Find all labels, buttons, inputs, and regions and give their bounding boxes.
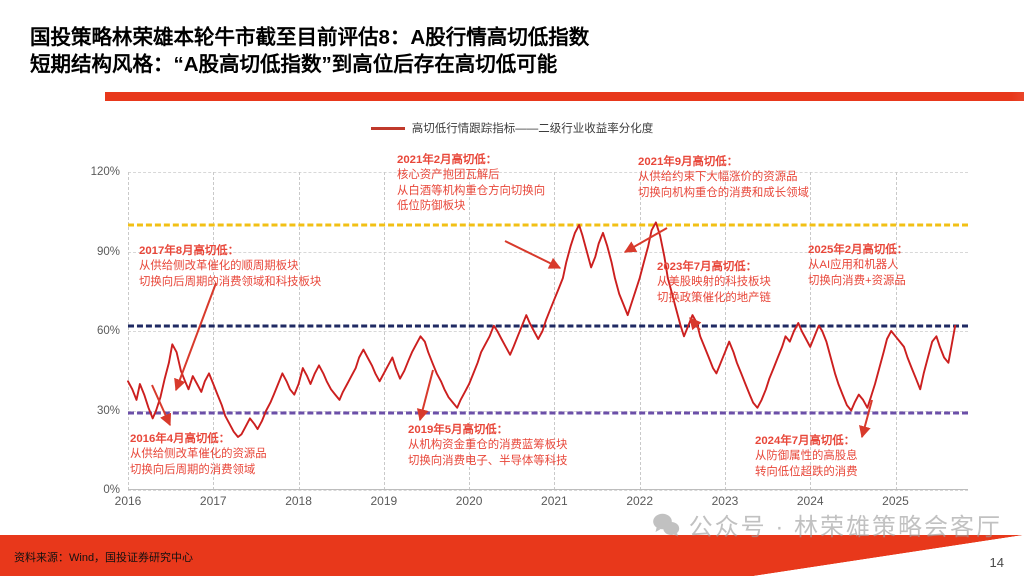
- x-tick-label: 2023: [695, 494, 755, 508]
- x-tick-label: 2024: [780, 494, 840, 508]
- grid-line-horizontal: [128, 490, 968, 491]
- page-title: 国投策略林荣雄本轮牛市截至目前评估8：A股行情高切低指数 短期结构风格：“A股高…: [30, 24, 990, 78]
- annotation-line: 2016年4月高切低：: [130, 432, 267, 447]
- annotation-line: 2019年5月高切低：: [408, 423, 567, 438]
- chart-x-axis: [128, 489, 968, 490]
- page-number: 14: [990, 555, 1004, 570]
- x-tick-label: 2016: [98, 494, 158, 508]
- title-line-2: 短期结构风格：“A股高切低指数”到高位后存在高切低可能: [30, 51, 990, 78]
- y-tick-label: 60%: [64, 325, 120, 337]
- annotation-line: 从防御属性的高股息: [755, 449, 858, 464]
- annotation-line: 从供给侧改革催化的顺周期板块: [139, 259, 321, 274]
- annotation-line: 转向低位超跌的消费: [755, 465, 858, 480]
- x-tick-label: 2025: [866, 494, 926, 508]
- title-line-1: 国投策略林荣雄本轮牛市截至目前评估8：A股行情高切低指数: [30, 24, 990, 51]
- x-tick-label: 2020: [439, 494, 499, 508]
- annotation-ann-2024-07: 2024年7月高切低：从防御属性的高股息转向低位超跌的消费: [755, 434, 858, 480]
- annotation-line: 核心资产抱团瓦解后: [397, 168, 545, 183]
- annotation-line: 切换向后周期的消费领域和科技板块: [139, 275, 321, 290]
- legend-swatch-series-1: [371, 127, 405, 130]
- annotation-line: 2017年8月高切低：: [139, 244, 321, 259]
- annotation-ann-2017-08: 2017年8月高切低：从供给侧改革催化的顺周期板块切换向后周期的消费领域和科技板…: [139, 244, 321, 290]
- chart-legend: 高切低行情跟踪指标——二级行业收益率分化度: [0, 120, 1024, 136]
- annotation-line: 从机构资金重仓的消费蓝筹板块: [408, 438, 567, 453]
- annotation-line: 2025年2月高切低：: [808, 243, 908, 258]
- source-note: 资料来源：Wind，国投证券研究中心: [14, 549, 193, 565]
- y-tick-label: 90%: [64, 246, 120, 258]
- annotation-ann-2023-07: 2023年7月高切低：从美股映射的科技板块切换政策催化的地产链: [657, 260, 771, 306]
- annotation-line: 切换向机构重仓的消费和成长领域: [638, 186, 809, 201]
- x-tick-label: 2021: [524, 494, 584, 508]
- annotation-ann-2025-02: 2025年2月高切低：从AI应用和机器人切换向消费+资源品: [808, 243, 908, 289]
- annotation-ann-2021-09: 2021年9月高切低：从供给约束下大幅涨价的资源品切换向机构重仓的消费和成长领域: [638, 155, 809, 201]
- y-tick-label: 30%: [64, 405, 120, 417]
- annotation-line: 切换向消费+资源品: [808, 274, 908, 289]
- x-tick-label: 2018: [269, 494, 329, 508]
- annotation-line: 从白酒等机构重仓方向切换向: [397, 184, 545, 199]
- annotation-line: 低位防御板块: [397, 199, 545, 214]
- annotation-ann-2021-02: 2021年2月高切低：核心资产抱团瓦解后从白酒等机构重仓方向切换向低位防御板块: [397, 153, 545, 215]
- watermark-text: 公众号 · 林荣雄策略会客厅: [689, 507, 1002, 542]
- annotation-line: 切换向后周期的消费领域: [130, 463, 267, 478]
- x-tick-label: 2022: [610, 494, 670, 508]
- annotation-line: 从供给约束下大幅涨价的资源品: [638, 170, 809, 185]
- watermark: 公众号 · 林荣雄策略会客厅: [652, 507, 1002, 542]
- wechat-icon: [652, 511, 680, 539]
- annotation-line: 从AI应用和机器人: [808, 258, 908, 273]
- annotation-ann-2016-04: 2016年4月高切低：从供给侧改革催化的资源品切换向后周期的消费领域: [130, 432, 267, 478]
- x-tick-label: 2017: [183, 494, 243, 508]
- annotation-line: 2021年9月高切低：: [638, 155, 809, 170]
- annotation-line: 2024年7月高切低：: [755, 434, 858, 449]
- annotation-ann-2019-05: 2019年5月高切低：从机构资金重仓的消费蓝筹板块切换向消费电子、半导体等科技: [408, 423, 567, 469]
- title-underline-bar: [105, 92, 1024, 101]
- annotation-line: 从供给侧改革催化的资源品: [130, 447, 267, 462]
- annotation-line: 2023年7月高切低：: [657, 260, 771, 275]
- annotation-line: 切换政策催化的地产链: [657, 291, 771, 306]
- annotation-line: 2021年2月高切低：: [397, 153, 545, 168]
- annotation-line: 切换向消费电子、半导体等科技: [408, 454, 567, 469]
- annotation-line: 从美股映射的科技板块: [657, 275, 771, 290]
- legend-label-series-1: 高切低行情跟踪指标——二级行业收益率分化度: [412, 120, 654, 136]
- x-tick-label: 2019: [354, 494, 414, 508]
- slide-root: 国投策略林荣雄本轮牛市截至目前评估8：A股行情高切低指数 短期结构风格：“A股高…: [0, 0, 1024, 576]
- y-tick-label: 120%: [64, 166, 120, 178]
